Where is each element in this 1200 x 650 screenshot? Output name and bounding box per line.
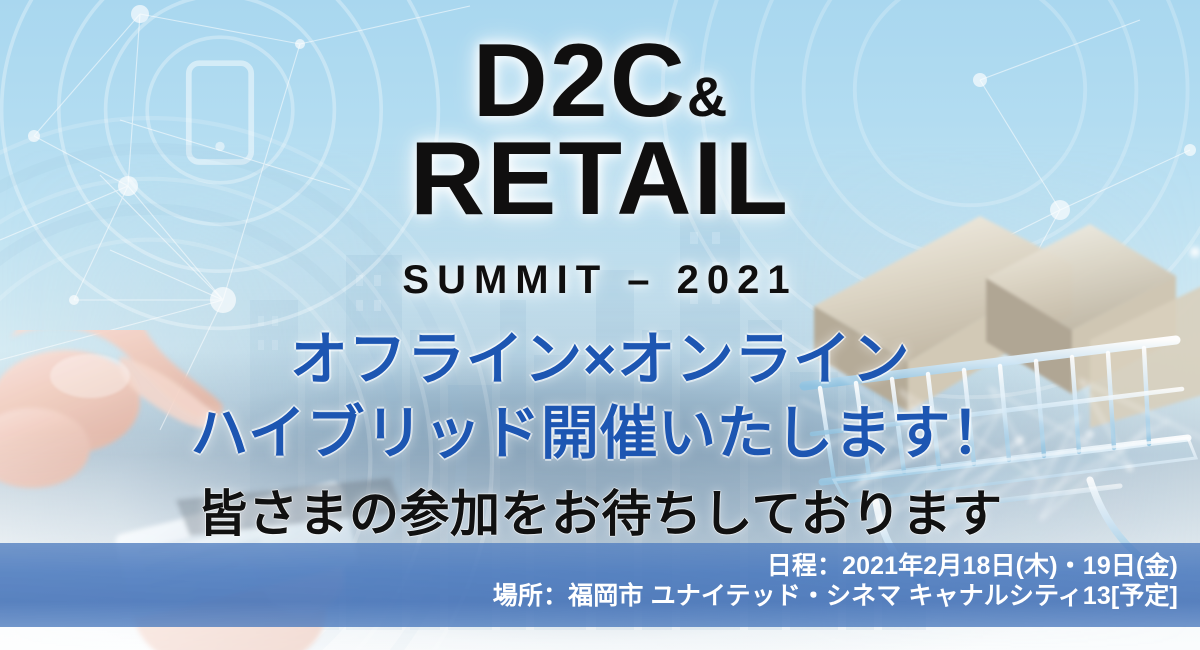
event-logo: D2C& RETAIL: [0, 34, 1200, 227]
headline-line-3: 皆さまの参加をお待ちしております: [0, 474, 1200, 546]
headline-line-1: オフライン×オンライン: [0, 312, 1200, 396]
event-details: 日程：2021年2月18日(木)・19日(金) 場所：福岡市 ユナイテッド・シネ…: [493, 552, 1178, 611]
d2c-retail-summit-banner: D2C& RETAIL SUMMIT – 2021 オフライン×オンライン ハイ…: [0, 0, 1200, 650]
logo-ampersand: &: [687, 65, 727, 128]
event-date: 日程：2021年2月18日(木)・19日(金): [493, 552, 1178, 582]
logo-line-retail: RETAIL: [0, 132, 1200, 228]
logo-line-d2c: D2C&: [0, 34, 1200, 130]
headline-line-2: ハイブリッド開催いたします！: [0, 386, 1200, 470]
event-venue: 場所：福岡市 ユナイテッド・シネマ キャナルシティ13[予定]: [493, 582, 1178, 612]
logo-subtitle-summit-2021: SUMMIT – 2021: [0, 258, 1200, 303]
